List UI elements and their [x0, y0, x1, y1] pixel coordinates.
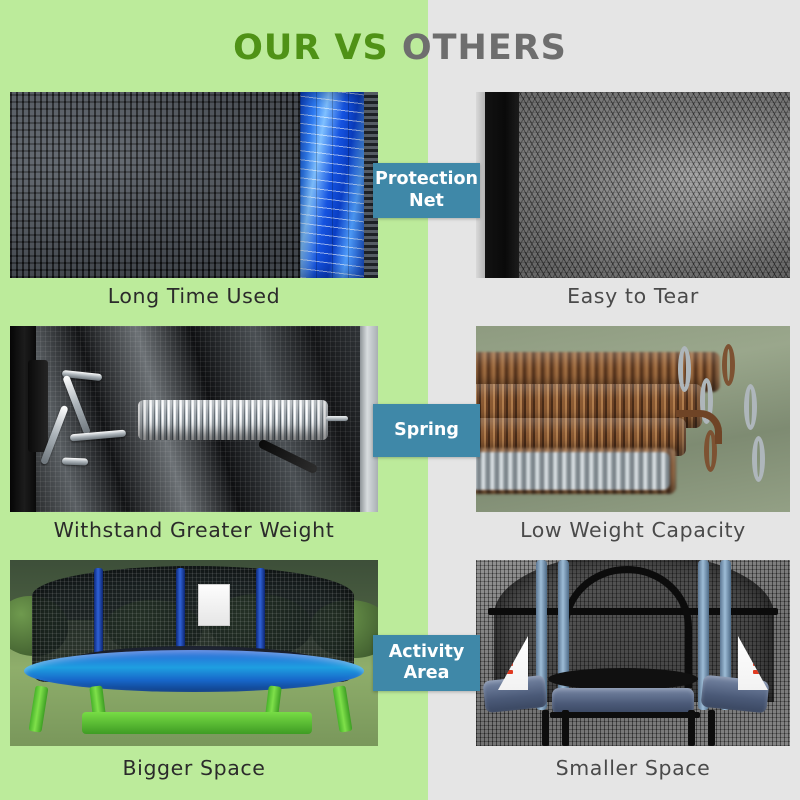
rusty-springs-photo [476, 326, 790, 512]
large-trampoline-on-grass-photo [10, 560, 378, 746]
green-base-frame [82, 712, 312, 734]
small-leg [708, 710, 715, 746]
hook-rod-bottom [62, 458, 88, 466]
spring-end-hook [326, 416, 348, 421]
blue-safety-pad [24, 650, 364, 692]
caption-ours-spring: Withstand Greater Weight [10, 518, 378, 542]
chain-link [752, 436, 765, 482]
dark-woven-protection-net-photo [10, 92, 378, 278]
small-jump-mat [548, 668, 698, 690]
blue-pad-center [552, 688, 694, 714]
others-spring-photo [476, 326, 790, 512]
v-ring-hook [40, 372, 118, 464]
caption-others-activity-area: Smaller Space [476, 756, 790, 780]
category-label-line1: Spring [394, 420, 459, 441]
caption-others-spring: Low Weight Capacity [476, 518, 790, 542]
blue-binding-strip [300, 92, 364, 278]
caption-ours-activity-area: Bigger Space [10, 756, 378, 780]
title-others-part: OTHERS [389, 28, 567, 68]
caption-ours-protection-net: Long Time Used [10, 284, 378, 308]
product-label-card [198, 584, 230, 626]
category-label-protection-net: Protection Net [373, 163, 480, 218]
ours-protection-net-photo [10, 92, 378, 278]
category-label-spring: Spring [373, 404, 480, 457]
mesh-dark-band [485, 92, 519, 278]
galvanized-spring-photo [10, 326, 378, 512]
caption-others-protection-net: Easy to Tear [476, 284, 790, 308]
worn-silver-spring [476, 452, 670, 490]
category-label-line1: Activity [389, 642, 464, 662]
title-ours-part: OUR VS [233, 28, 389, 68]
category-label-line2: Area [404, 663, 450, 683]
thin-hex-mesh-net-photo [476, 92, 790, 278]
small-frame-bar [550, 712, 700, 718]
small-leg [542, 710, 549, 746]
chain-link [722, 344, 735, 386]
black-strap [10, 326, 36, 512]
hex-mesh-texture [476, 92, 790, 278]
ours-activity-area-photo [10, 560, 378, 746]
others-protection-net-photo [476, 92, 790, 278]
category-label-line1: Protection [375, 169, 478, 189]
hook-rod-lower [40, 405, 69, 465]
ours-spring-photo [10, 326, 378, 512]
comparison-infographic: OUR VS OTHERS Long Time Used Easy to Tea… [0, 0, 800, 800]
page-title: OUR VS OTHERS [0, 24, 800, 72]
hook-rod-upper [62, 375, 91, 435]
rusty-spring-hook [676, 410, 722, 444]
hook-rod-middle [70, 430, 126, 442]
category-label-line2: Net [409, 191, 444, 211]
category-label-activity-area: Activity Area [373, 635, 480, 691]
chain-link [744, 384, 757, 430]
chain-link [678, 346, 691, 392]
others-activity-area-photo [476, 560, 790, 746]
small-trampoline-photo [476, 560, 790, 746]
steel-spring-coil [138, 400, 328, 440]
